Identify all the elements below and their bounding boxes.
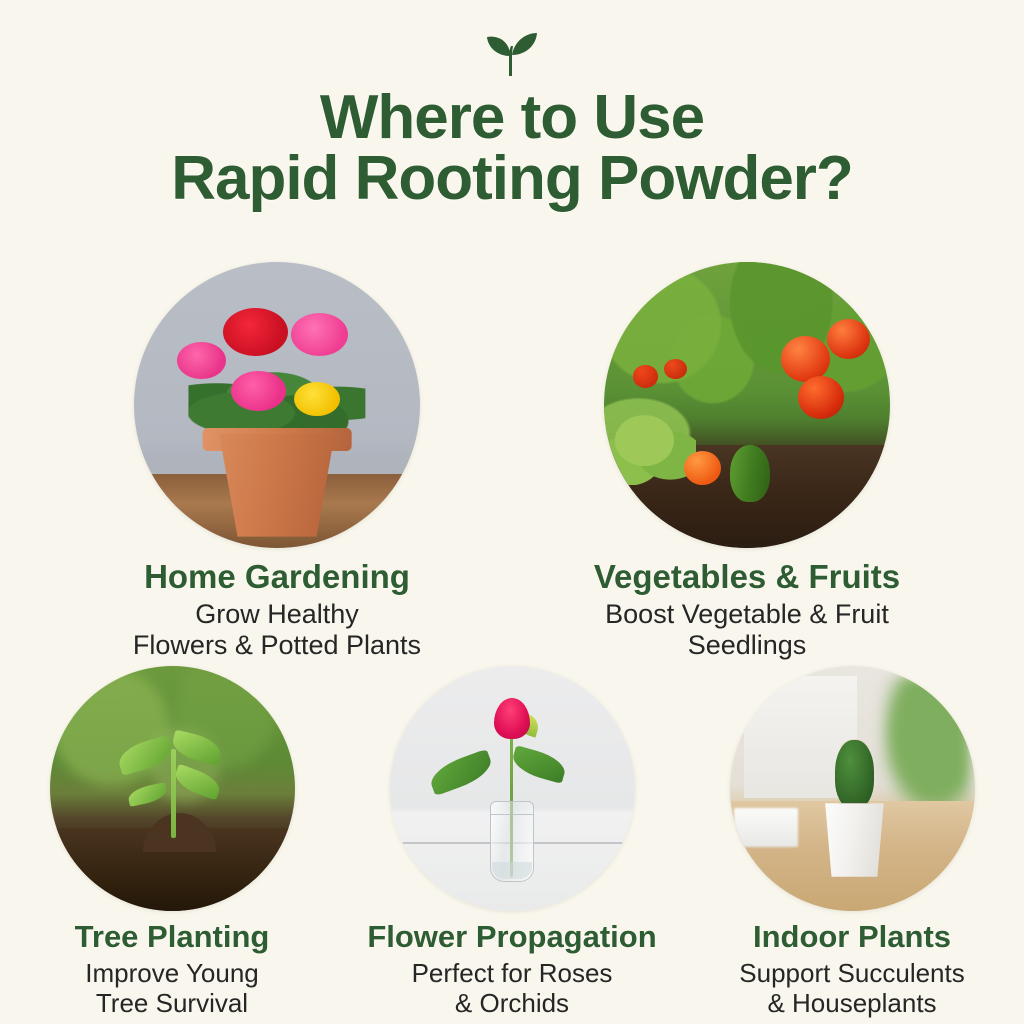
title-line-1: Where to Use: [320, 83, 704, 152]
vegetables-fruits-image: [604, 262, 890, 548]
card-subtitle: Grow Healthy Flowers & Potted Plants: [121, 599, 433, 662]
card-indoor-plants[interactable]: Indoor Plants Support Succulents & House…: [682, 666, 1022, 1018]
cards-row-bottom: Tree Planting Improve Young Tree Surviva…: [0, 666, 1024, 1018]
title-line-2: Rapid Rooting Powder?: [40, 149, 984, 210]
tree-planting-image: [50, 666, 295, 911]
cards-row-top: Home Gardening Grow Healthy Flowers & Po…: [0, 262, 1024, 662]
card-subtitle: Support Succulents & Houseplants: [727, 958, 976, 1018]
sprout-icon: [476, 26, 548, 82]
card-home-gardening[interactable]: Home Gardening Grow Healthy Flowers & Po…: [42, 262, 512, 662]
card-title: Tree Planting: [75, 921, 270, 952]
card-subtitle: Perfect for Roses & Orchids: [400, 958, 625, 1018]
card-subtitle: Improve Young Tree Survival: [73, 958, 270, 1018]
card-title: Home Gardening: [144, 560, 410, 593]
card-tree-planting[interactable]: Tree Planting Improve Young Tree Surviva…: [2, 666, 342, 1018]
card-flower-propagation[interactable]: Flower Propagation Perfect for Roses & O…: [342, 666, 682, 1018]
indoor-plants-image: [730, 666, 975, 911]
poster-header: Where to Use Rapid Rooting Powder?: [0, 0, 1024, 210]
card-title: Flower Propagation: [367, 921, 656, 952]
page-title: Where to Use Rapid Rooting Powder?: [0, 88, 1024, 210]
card-title: Vegetables & Fruits: [594, 560, 900, 593]
card-vegetables-fruits[interactable]: Vegetables & Fruits Boost Vegetable & Fr…: [512, 262, 982, 662]
home-gardening-image: [134, 262, 420, 548]
flower-propagation-image: [390, 666, 635, 911]
card-subtitle: Boost Vegetable & Fruit Seedlings: [593, 599, 901, 662]
card-title: Indoor Plants: [753, 921, 951, 952]
infographic-poster: Where to Use Rapid Rooting Powder? H: [0, 0, 1024, 1024]
